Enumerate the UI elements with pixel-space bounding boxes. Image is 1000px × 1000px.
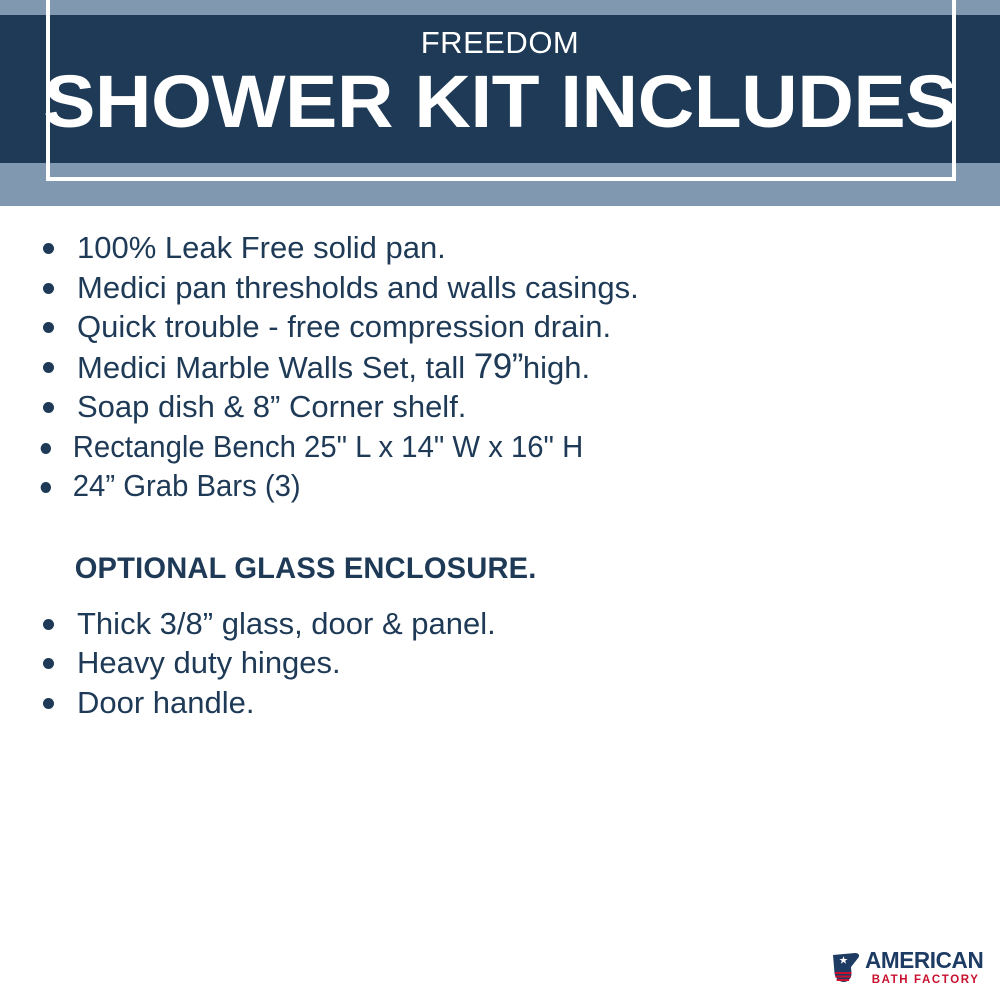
bullet-icon	[43, 402, 54, 413]
list-item-label: 24” Grab Bars (3)	[73, 468, 301, 503]
list-item-label: Heavy duty hinges.	[77, 645, 341, 680]
bullet-icon	[41, 482, 51, 493]
american-flag-shield-icon	[831, 952, 861, 983]
main-content: 100% Leak Free solid pan. Medici pan thr…	[0, 206, 1000, 722]
brand-logo: AMERICAN BATH FACTORY	[831, 949, 986, 987]
list-item-measure: 79”	[474, 347, 523, 386]
list-item: Thick 3/8” glass, door & panel.	[0, 604, 1000, 644]
list-item: Heavy duty hinges.	[0, 643, 1000, 683]
bullet-icon	[43, 322, 54, 333]
logo-wordmark: AMERICAN BATH FACTORY	[865, 949, 986, 987]
header-text-group: FREEDOM SHOWER KIT INCLUDES	[0, 15, 1000, 163]
list-item-label: Door handle.	[77, 685, 255, 720]
list-item-label: Thick 3/8” glass, door & panel.	[77, 606, 496, 641]
list-item-label-after: high.	[523, 350, 590, 385]
list-item: Rectangle Bench 25" L x 14" W x 16" H	[0, 427, 945, 467]
list-item: 100% Leak Free solid pan.	[0, 228, 1000, 268]
list-item-label: 100% Leak Free solid pan.	[77, 230, 446, 265]
list-item: Soap dish & 8” Corner shelf.	[0, 387, 1000, 427]
list-item: Medici pan thresholds and walls casings.	[0, 268, 1000, 308]
page-root: FREEDOM SHOWER KIT INCLUDES 100% Leak Fr…	[0, 0, 1000, 1000]
bullet-icon	[41, 443, 51, 454]
list-item-label: Rectangle Bench 25" L x 14" W x 16" H	[73, 429, 583, 464]
logo-brand-tagline: BATH FACTORY	[865, 975, 986, 987]
list-item: 24” Grab Bars (3)	[0, 466, 945, 506]
list-item-label-before: Medici Marble Walls Set, tall	[77, 350, 474, 385]
optional-items-list: Thick 3/8” glass, door & panel. Heavy du…	[0, 604, 1000, 723]
page-title: SHOWER KIT INCLUDES	[43, 64, 957, 139]
header-banner: FREEDOM SHOWER KIT INCLUDES	[0, 0, 1000, 206]
list-item-label: Medici pan thresholds and walls casings.	[77, 270, 639, 305]
optional-enclosure-heading: OPTIONAL GLASS ENCLOSURE.	[0, 552, 970, 586]
list-item: Quick trouble - free compression drain.	[0, 307, 1000, 347]
header-eyebrow: FREEDOM	[421, 27, 580, 58]
bullet-icon	[43, 658, 54, 669]
list-item-label: Soap dish & 8” Corner shelf.	[77, 389, 466, 424]
bullet-icon	[43, 243, 54, 254]
included-items-list: 100% Leak Free solid pan. Medici pan thr…	[0, 228, 1000, 506]
list-item: Medici Marble Walls Set, tall 79”high.	[0, 347, 1000, 388]
bullet-icon	[43, 698, 54, 709]
list-item: Door handle.	[0, 683, 1000, 723]
bullet-icon	[43, 619, 54, 630]
list-item-label: Quick trouble - free compression drain.	[77, 309, 611, 344]
bullet-icon	[43, 362, 54, 373]
bullet-icon	[43, 283, 54, 294]
logo-brand-name: AMERICAN	[865, 949, 983, 972]
